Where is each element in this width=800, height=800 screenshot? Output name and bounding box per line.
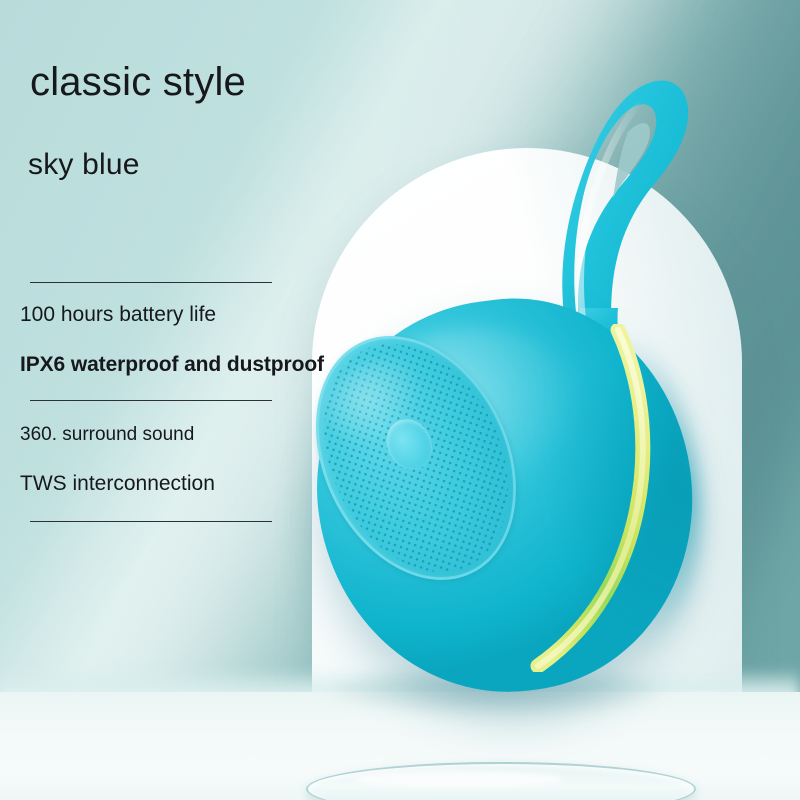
product-photo-scene: classic style sky blue 100 hours battery… bbox=[0, 0, 800, 800]
bluetooth-speaker bbox=[318, 300, 692, 692]
glass-disc-highlight bbox=[354, 771, 564, 787]
